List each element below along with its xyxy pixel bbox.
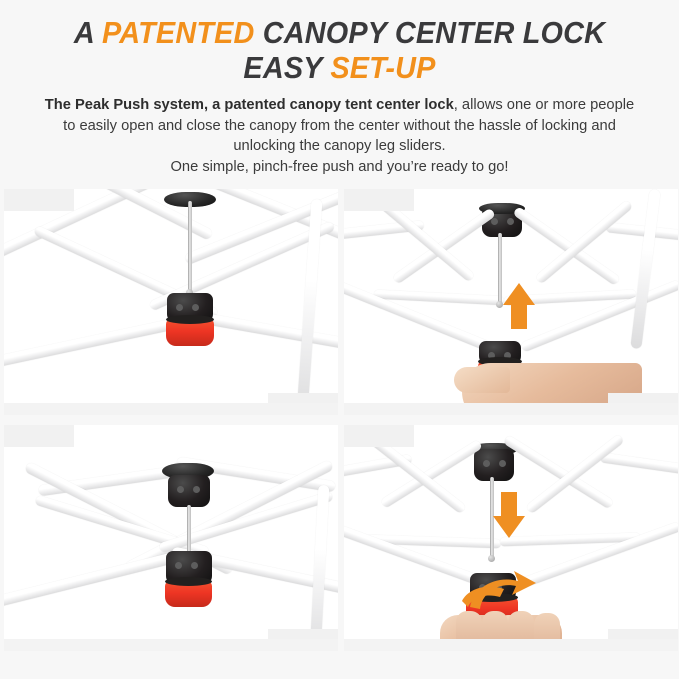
photo-hand-push-up xyxy=(344,189,678,415)
photo-corner-wedge xyxy=(4,425,74,447)
frame-tube xyxy=(380,439,483,508)
photo-bottom-strip xyxy=(4,403,338,415)
center-lock-hub-top xyxy=(168,475,210,507)
panel-bottom-left xyxy=(4,425,338,651)
page-title-line-2: EASY SET-UP xyxy=(52,51,628,85)
title-highlight-setup: SET-UP xyxy=(330,50,435,85)
photo-corner-wedge xyxy=(344,425,414,447)
panel-top-left xyxy=(4,189,338,415)
frame-leg-tube xyxy=(630,189,660,349)
hand-thumb xyxy=(454,367,510,393)
panel-grid xyxy=(0,189,679,661)
photo-bottom-strip xyxy=(344,639,678,651)
center-lock-red-barrel xyxy=(166,319,214,346)
center-lock-rod xyxy=(188,201,192,293)
photo-lock-extended xyxy=(4,425,338,651)
title-highlight-patented: PATENTED xyxy=(102,15,255,50)
header: A PATENTED CANOPY CENTER LOCK EASY SET-U… xyxy=(0,0,679,177)
photo-corner-wedge xyxy=(4,189,74,211)
frame-tube xyxy=(535,200,633,285)
photo-bottom-strip xyxy=(344,403,678,415)
description-final-line: One simple, pinch-free push and you’re r… xyxy=(170,159,508,175)
photo-canopy-frame-closed xyxy=(4,189,338,415)
frame-leg-tube xyxy=(297,199,323,414)
description-bold-lead: The Peak Push system, a patented canopy … xyxy=(45,97,454,113)
arrow-curved-icon xyxy=(456,567,540,617)
center-lock-red-barrel xyxy=(165,581,212,607)
center-lock-hub-top xyxy=(474,449,514,481)
title-part-easy: EASY xyxy=(243,50,330,85)
title-part-2: CANOPY CENTER LOCK xyxy=(255,15,606,50)
frame-tube xyxy=(600,452,678,475)
frame-tube xyxy=(4,551,180,610)
panel-bottom-right xyxy=(344,425,678,651)
page-title-line-1: A PATENTED CANOPY CENTER LOCK xyxy=(52,16,628,50)
center-lock-rod-tip xyxy=(488,555,495,562)
frame-tube xyxy=(606,222,678,241)
frame-tube xyxy=(4,315,191,369)
description-paragraph: The Peak Push system, a patented canopy … xyxy=(38,95,642,177)
panel-top-right xyxy=(344,189,678,415)
photo-corner-wedge xyxy=(344,189,414,211)
arrow-up-icon xyxy=(502,282,536,330)
frame-leg-tube xyxy=(310,485,330,651)
arrow-down-icon xyxy=(492,491,526,539)
photo-bottom-strip xyxy=(4,639,338,651)
product-infographic: A PATENTED CANOPY CENTER LOCK EASY SET-U… xyxy=(0,0,679,679)
title-part-1: A xyxy=(74,15,102,50)
photo-two-hands-pull-down xyxy=(344,425,678,651)
center-lock-rod xyxy=(187,505,191,555)
